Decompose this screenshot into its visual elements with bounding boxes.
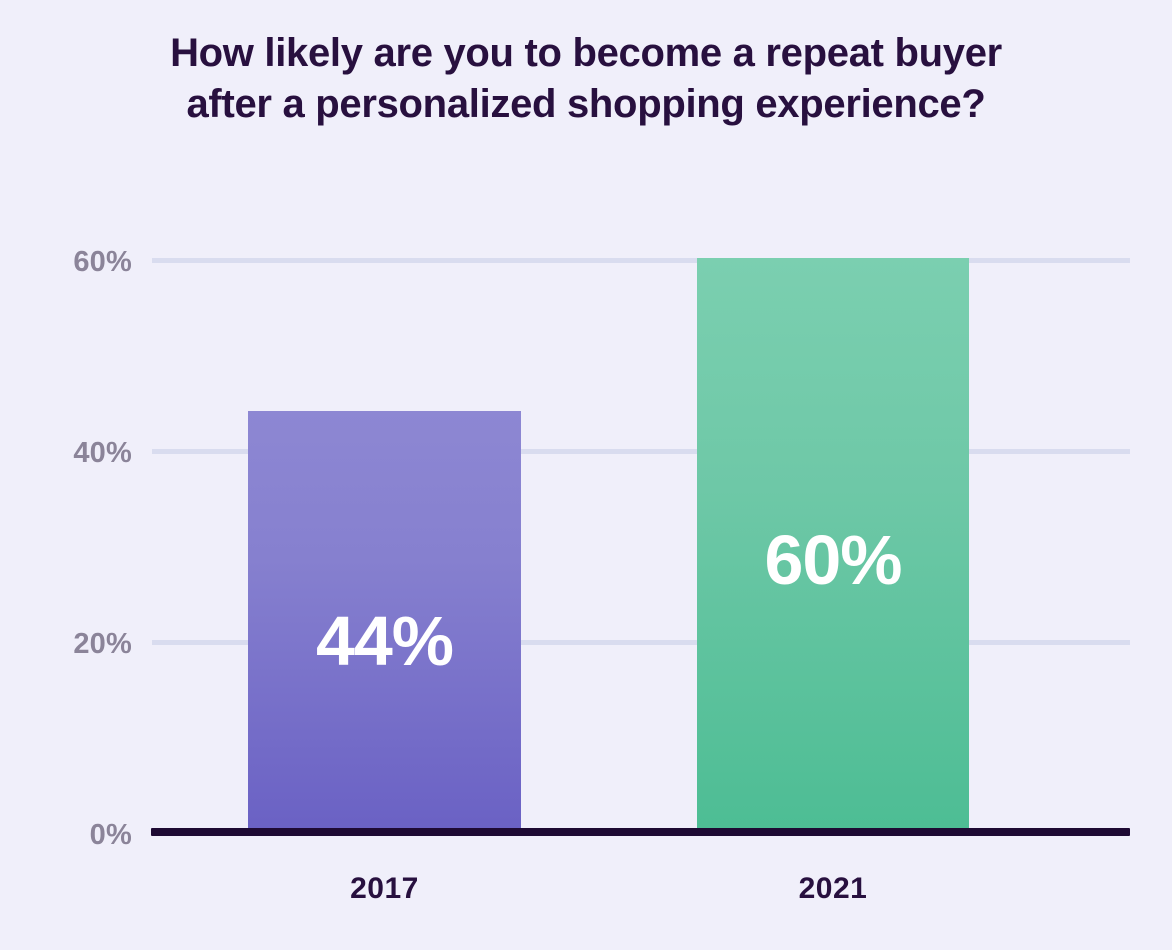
bar-value-2017: 44% — [248, 601, 521, 681]
plot-area: 60% 40% 20% 0% 44% 60% 2017 2021 — [0, 0, 1172, 950]
xtick-label-2021: 2021 — [697, 872, 969, 906]
x-axis-baseline — [151, 828, 1130, 836]
ytick-label-0: 0% — [0, 819, 132, 852]
ytick-label-60: 60% — [0, 246, 132, 279]
gridline-60 — [152, 258, 1130, 263]
bar-value-2021: 60% — [697, 520, 969, 600]
bar-chart-figure: How likely are you to become a repeat bu… — [0, 0, 1172, 950]
bar-2017[interactable]: 44% — [248, 411, 521, 832]
bar-2021[interactable]: 60% — [697, 258, 969, 832]
ytick-label-20: 20% — [0, 628, 132, 661]
xtick-label-2017: 2017 — [248, 872, 521, 906]
ytick-label-40: 40% — [0, 437, 132, 470]
